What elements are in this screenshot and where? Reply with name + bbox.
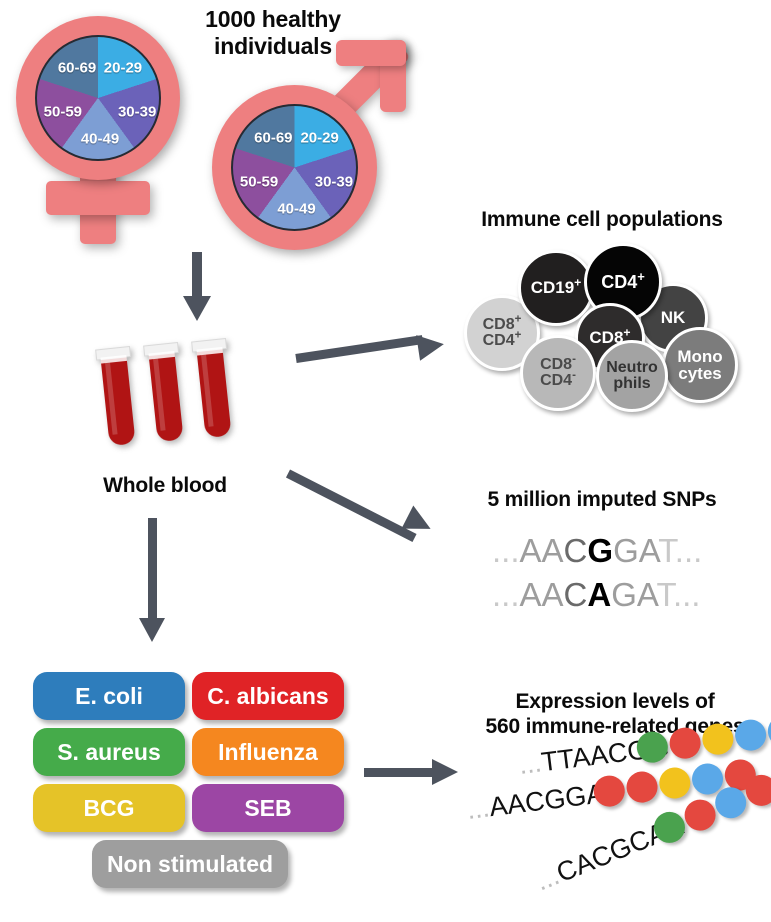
arrow-head bbox=[183, 296, 211, 321]
immune-cell-label: CD4+ bbox=[601, 273, 645, 291]
blood-tubes bbox=[95, 338, 275, 453]
stimulation-label: Non stimulated bbox=[107, 851, 273, 878]
expression-bead bbox=[658, 766, 693, 801]
age-group-label-60-69: 60-69 bbox=[58, 60, 96, 77]
stimulation-saureus[interactable]: S. aureus bbox=[33, 728, 185, 776]
arrow-shaft bbox=[148, 518, 157, 622]
age-group-label-30-39: 30-39 bbox=[118, 104, 156, 121]
snp-prefix: ... bbox=[492, 532, 520, 569]
snp-sequence-row: ...AACAGAT... bbox=[492, 576, 700, 614]
female-age-pie: 20-2930-3940-4950-5960-69 bbox=[35, 35, 161, 161]
immune-cell-label: Monocytes bbox=[677, 348, 722, 383]
male-age-pie: 20-2930-3940-4950-5960-69 bbox=[231, 104, 358, 231]
stimulation-non-stimulated[interactable]: Non stimulated bbox=[92, 840, 288, 888]
stimulation-seb[interactable]: SEB bbox=[192, 784, 344, 832]
immune-cell-neutrophils: Neutrophils bbox=[596, 340, 668, 412]
stimulation-label: SEB bbox=[244, 795, 291, 822]
immune-cell-label: NK bbox=[661, 309, 686, 326]
snp-trail: ... bbox=[673, 576, 701, 613]
male-symbol-arrowhead-horizontal bbox=[336, 40, 406, 66]
immune-cell-label: CD19+ bbox=[531, 279, 582, 296]
stimulation-influenza[interactable]: Influenza bbox=[192, 728, 344, 776]
arrow-head bbox=[432, 759, 458, 785]
blood-tube bbox=[187, 336, 240, 448]
arrow-shaft bbox=[286, 469, 417, 541]
stimulation-bcg[interactable]: BCG bbox=[33, 784, 185, 832]
arrow-blood-to-immune bbox=[296, 330, 458, 372]
snps-heading: 5 million imputed SNPs bbox=[452, 488, 752, 513]
immune-cell-label: CD8+CD4+ bbox=[483, 317, 522, 350]
age-group-label-20-29: 20-29 bbox=[104, 60, 142, 77]
stimulation-label: S. aureus bbox=[57, 739, 161, 766]
expression-bead bbox=[668, 726, 703, 761]
expression-bead bbox=[625, 770, 660, 805]
blood-tube-icon bbox=[91, 344, 144, 456]
immune-cell-cluster: CD8+CD4+ NK CD19+ CD4+ CD8+ Monocytes CD… bbox=[462, 240, 762, 420]
snp-variant-allele: A bbox=[587, 576, 611, 613]
figure-canvas: 1000 healthy individuals 20-2930-3940-49… bbox=[0, 0, 771, 922]
stimulation-label: E. coli bbox=[75, 683, 143, 710]
snp-prefix: ... bbox=[492, 576, 520, 613]
stimulation-ecoli[interactable]: E. coli bbox=[33, 672, 185, 720]
age-group-label-20-29: 20-29 bbox=[300, 129, 338, 146]
arrow-shaft bbox=[364, 768, 436, 777]
stimulation-panel: E. coli C. albicans S. aureus Influenza … bbox=[30, 672, 350, 898]
snp-sequence-row: ...AACGGAT... bbox=[492, 532, 702, 570]
age-group-label-60-69: 60-69 bbox=[254, 129, 292, 146]
age-group-label-50-59: 50-59 bbox=[44, 104, 82, 121]
blood-tube-icon bbox=[139, 340, 192, 452]
immune-cell-cd8neg-cd4neg: CD8-CD4- bbox=[520, 335, 596, 411]
arrow-shaft bbox=[192, 252, 202, 300]
blood-tube bbox=[139, 340, 192, 452]
snp-trail: ... bbox=[675, 532, 703, 569]
snp-variant-allele: G bbox=[587, 532, 613, 569]
arrow-blood-to-snps bbox=[288, 455, 458, 550]
blood-tube bbox=[91, 344, 144, 456]
whole-blood-label: Whole blood bbox=[85, 474, 245, 499]
arrow-shaft bbox=[295, 335, 423, 363]
arrow-head bbox=[416, 331, 446, 361]
stimulation-calbicans[interactable]: C. albicans bbox=[192, 672, 344, 720]
expression-heading-line1: Expression levels of bbox=[462, 690, 768, 715]
age-group-label-30-39: 30-39 bbox=[315, 173, 353, 190]
arrow-cohort-to-blood bbox=[182, 252, 212, 324]
stimulation-label: C. albicans bbox=[207, 683, 328, 710]
immune-cell-monocytes: Monocytes bbox=[662, 327, 738, 403]
stimulation-label: BCG bbox=[83, 795, 134, 822]
age-group-label-50-59: 50-59 bbox=[240, 173, 278, 190]
male-symbol: 20-2930-3940-4950-5960-69 bbox=[200, 40, 440, 250]
arrow-head bbox=[139, 618, 165, 642]
expression-bead bbox=[701, 722, 736, 757]
immune-cell-label: Neutrophils bbox=[606, 360, 658, 393]
immune-heading: Immune cell populations bbox=[452, 208, 752, 233]
immune-cell-label: CD8-CD4- bbox=[540, 357, 576, 390]
female-symbol: 20-2930-3940-4950-5960-69 bbox=[8, 8, 208, 248]
stimulation-label: Influenza bbox=[218, 739, 318, 766]
blood-tube-icon bbox=[187, 336, 240, 448]
age-group-label-40-49: 40-49 bbox=[277, 200, 315, 217]
female-symbol-cross bbox=[46, 181, 150, 215]
age-group-label-40-49: 40-49 bbox=[81, 131, 119, 148]
arrow-blood-to-stimulations bbox=[138, 518, 168, 648]
arrow-stimulations-to-expression bbox=[364, 756, 474, 792]
